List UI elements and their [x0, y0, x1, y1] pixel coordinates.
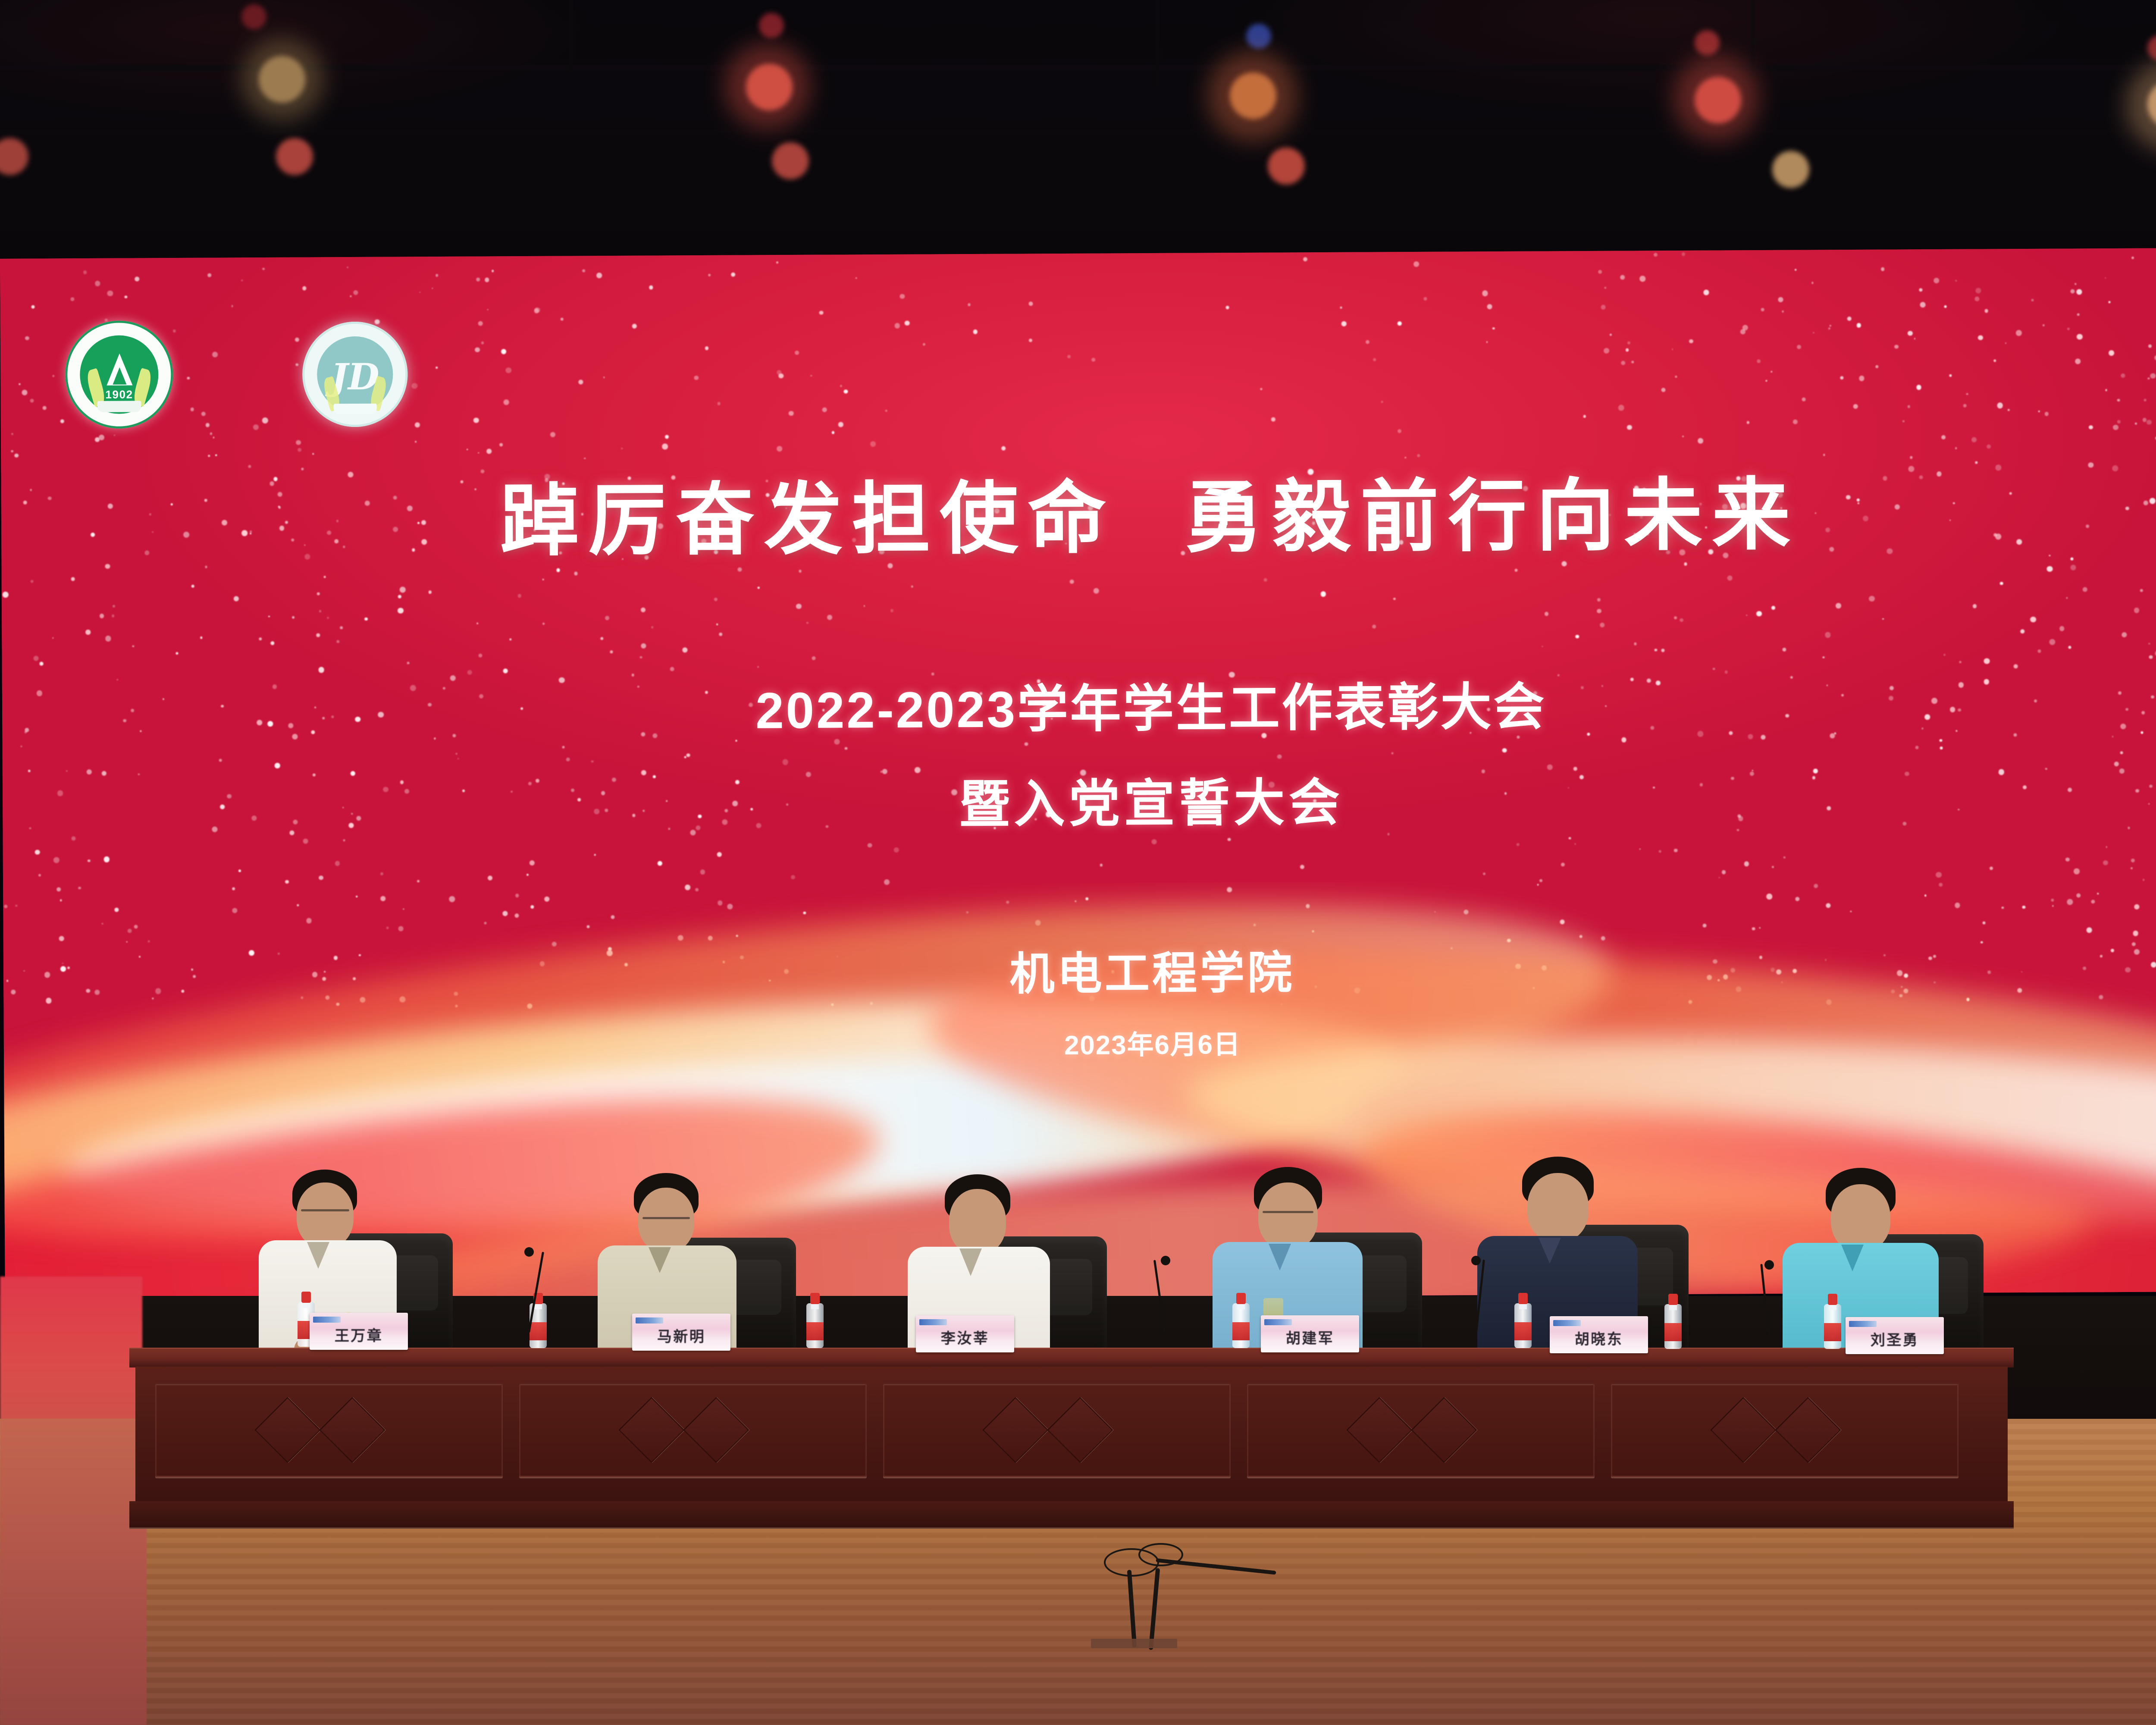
table-top-surface [129, 1348, 2014, 1367]
nameplate: 李汝莘 [916, 1315, 1014, 1352]
head [949, 1189, 1006, 1255]
glasses-icon [642, 1217, 690, 1219]
college-emblem: JD [302, 321, 408, 427]
nameplate: 胡晓东 [1550, 1316, 1648, 1353]
head [297, 1182, 354, 1248]
stage-lamp [276, 138, 313, 175]
stage-lamp-head [759, 13, 784, 38]
nameplate: 刘圣勇 [1846, 1317, 1944, 1354]
diamond-motif [983, 1397, 1049, 1463]
cable-floor-tape [1091, 1639, 1177, 1648]
water-bottle [1824, 1294, 1841, 1349]
diamond-motif [619, 1397, 685, 1463]
head [1831, 1184, 1890, 1251]
nameplate-name: 李汝莘 [916, 1327, 1014, 1348]
nameplate-logo-icon [919, 1319, 947, 1325]
collar [1269, 1244, 1291, 1270]
table-panel [155, 1383, 503, 1477]
led-subtitle-line2: 暨入党宣誓大会 [3, 756, 2156, 841]
water-bottle [1514, 1293, 1532, 1348]
glasses-icon [1263, 1211, 1313, 1213]
collar [307, 1242, 329, 1269]
stage-lamp-head [1246, 24, 1271, 49]
table-panel [1247, 1383, 1595, 1477]
table-panel [883, 1383, 1231, 1477]
stage-lamp [1772, 151, 1809, 188]
water-bottle [1664, 1294, 1682, 1349]
collar [1841, 1245, 1864, 1271]
stage-lighting-truss [0, 0, 2156, 276]
water-bottle [530, 1293, 547, 1348]
head [638, 1188, 694, 1252]
nameplate: 王万章 [310, 1313, 408, 1350]
water-bottle [806, 1293, 824, 1348]
diamond-motif [1775, 1397, 1841, 1463]
headline-right: 勇毅前行向未来 [1184, 468, 1800, 564]
diamond-motif [1047, 1397, 1113, 1463]
nameplate-name: 王万章 [310, 1324, 408, 1345]
college-emblem-monogram: JD [302, 355, 407, 398]
head [1527, 1173, 1589, 1242]
stage-lamp [1230, 72, 1276, 119]
table-base-trim [129, 1501, 2014, 1529]
diamond-motif [683, 1397, 749, 1463]
auditorium-stage-photo: 1902 JD 踔厉奋发担使命勇毅前行向未来 2022-2023学年学生工作表彰… [0, 0, 2156, 1725]
university-emblem: 1902 [65, 320, 173, 429]
led-backdrop-screen: 1902 JD 踔厉奋发担使命勇毅前行向未来 2022-2023学年学生工作表彰… [0, 248, 2156, 1302]
collar [1539, 1238, 1561, 1264]
nameplate: 胡建军 [1261, 1315, 1359, 1352]
wooden-stage-floor-left-glow [0, 1419, 147, 1725]
headline-left: 踔厉奋发担使命 [500, 471, 1116, 567]
collar [959, 1248, 982, 1276]
glasses-icon [301, 1209, 349, 1211]
led-organization: 机电工程学院 [3, 931, 2156, 1007]
stage-lamp [772, 142, 809, 179]
table-panel [519, 1383, 867, 1477]
diamond-motif [255, 1397, 321, 1463]
head [1258, 1182, 1318, 1250]
stage-lamp-head [241, 4, 266, 29]
stage-lamp [746, 64, 793, 110]
nameplate-logo-icon [636, 1317, 663, 1324]
stage-lamp [1695, 77, 1741, 123]
stage-lamp-head [2147, 35, 2156, 60]
stage-lamp [259, 56, 305, 103]
stage-lamp-head [1695, 30, 1720, 55]
nameplate: 马新明 [632, 1314, 730, 1351]
stage-lamp [0, 138, 28, 175]
university-emblem-year: 1902 [65, 388, 173, 401]
nameplate-logo-icon [1553, 1320, 1581, 1326]
water-bottle [1232, 1293, 1250, 1348]
diamond-motif [1411, 1397, 1477, 1463]
nameplate-logo-icon [1849, 1321, 1877, 1327]
nameplate-name: 刘圣勇 [1846, 1328, 1944, 1349]
nameplate-name: 胡建军 [1261, 1327, 1359, 1348]
diamond-motif [320, 1397, 385, 1463]
led-headline: 踔厉奋发担使命勇毅前行向未来 [1, 470, 2156, 566]
table-panel [1611, 1383, 1959, 1477]
nameplate-name: 马新明 [632, 1325, 730, 1346]
diamond-motif [1711, 1397, 1777, 1463]
diamond-motif [1347, 1397, 1413, 1463]
nameplate-logo-icon [1264, 1319, 1292, 1325]
table-front-body [135, 1367, 2008, 1509]
conference-table [129, 1348, 2014, 1529]
led-subtitle-line1: 2022-2023学年学生工作表彰大会 [2, 662, 2156, 746]
nameplate-logo-icon [313, 1317, 341, 1323]
stage-lamp [1268, 147, 1305, 185]
nameplate-name: 胡晓东 [1550, 1327, 1648, 1349]
collar [649, 1247, 671, 1273]
